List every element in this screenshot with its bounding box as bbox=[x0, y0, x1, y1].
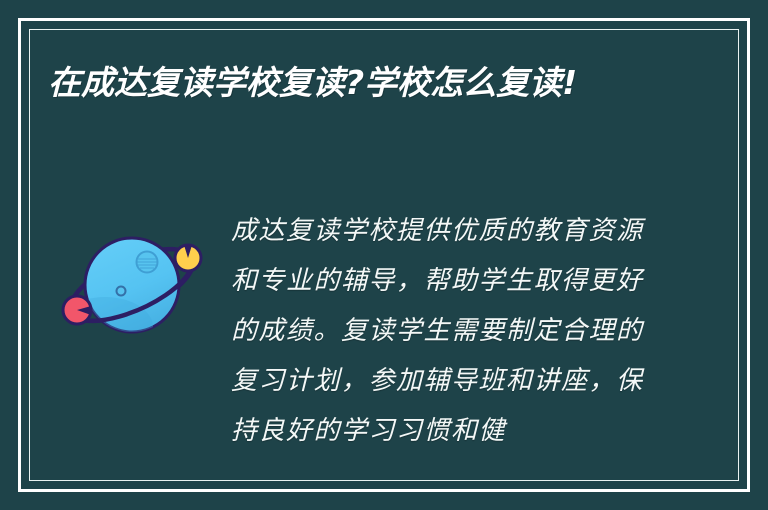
page-title: 在成达复读学校复读?学校怎么复读! bbox=[48, 58, 648, 108]
pink-moon bbox=[63, 296, 91, 324]
yellow-moon bbox=[175, 245, 201, 271]
planet-illustration bbox=[55, 222, 210, 357]
poster-canvas: 在成达复读学校复读?学校怎么复读! bbox=[0, 0, 768, 510]
small-crater bbox=[117, 287, 126, 296]
body-paragraph: 成达复读学校提供优质的教育资源和专业的辅导，帮助学生取得更好的成绩。复读学生需要… bbox=[231, 206, 655, 456]
